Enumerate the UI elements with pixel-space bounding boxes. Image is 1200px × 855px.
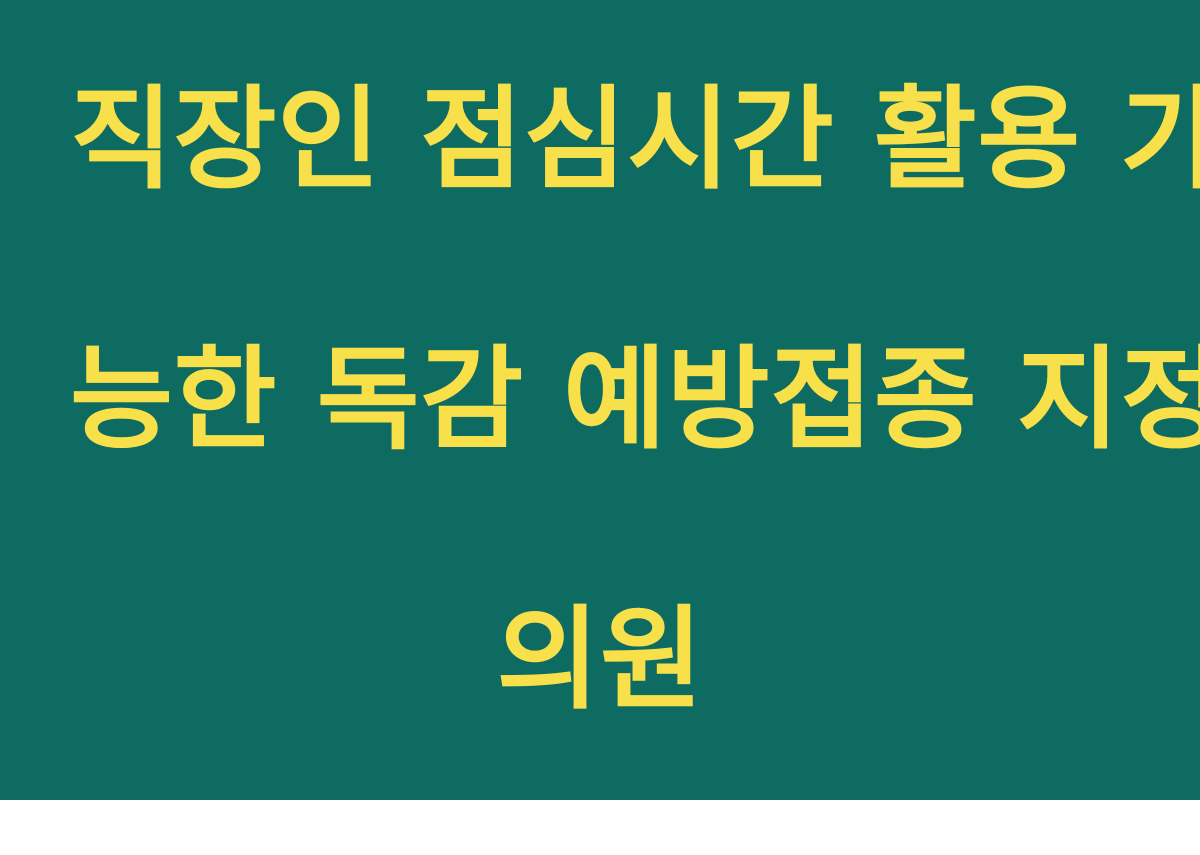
page-title: 직장인 점심시간 활용 가 능한 독감 예방접종 지정 의원 bbox=[70, 0, 1130, 855]
headline-line-1: 직장인 점심시간 활용 가 bbox=[70, 75, 1130, 205]
thumbnail-card: 직장인 점심시간 활용 가 능한 독감 예방접종 지정 의원 bbox=[0, 0, 1200, 800]
headline-line-3: 의원 bbox=[70, 595, 1130, 725]
headline-line-2: 능한 독감 예방접종 지정 bbox=[70, 335, 1130, 465]
